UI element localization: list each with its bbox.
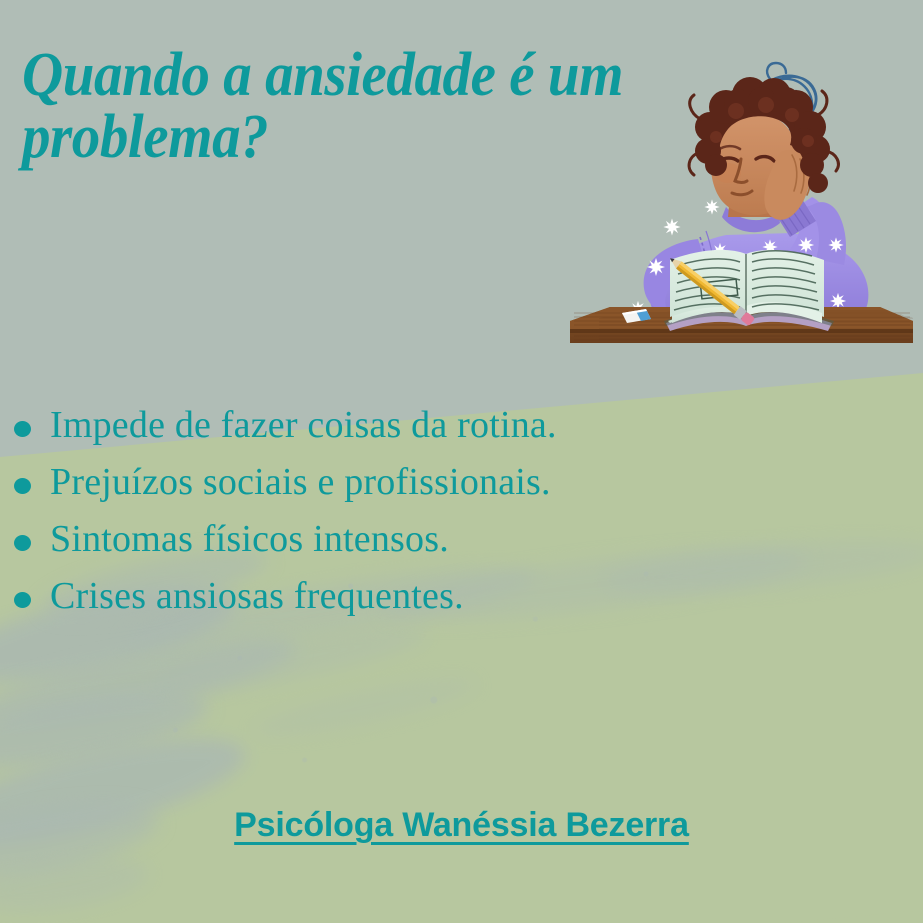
list-item: Prejuízos sociais e profissionais.	[0, 462, 700, 519]
list-item-label: Impede de fazer coisas da rotina.	[50, 405, 557, 445]
list-item: Crises ansiosas frequentes.	[0, 576, 700, 633]
list-item: Sintomas físicos intensos.	[0, 519, 700, 576]
list-item-label: Crises ansiosas frequentes.	[50, 576, 464, 616]
bullet-dot-icon	[14, 592, 31, 608]
slide-title: Quando a ansiedade é um problema?	[22, 44, 648, 168]
bullet-dot-icon	[14, 478, 31, 494]
list-item-label: Prejuízos sociais e profissionais.	[50, 462, 551, 502]
list-item: Impede de fazer coisas da rotina.	[0, 405, 700, 462]
bullet-list: Impede de fazer coisas da rotina. Prejuí…	[0, 405, 700, 633]
list-item-label: Sintomas físicos intensos.	[50, 519, 449, 559]
anxious-student-at-desk-illustration	[560, 55, 923, 405]
bullet-dot-icon	[14, 535, 31, 551]
author-credit: Psicóloga Wanéssia Bezerra	[0, 806, 923, 845]
bullet-dot-icon	[14, 421, 31, 437]
slide-canvas: Quando a ansiedade é um problema?	[0, 0, 923, 923]
